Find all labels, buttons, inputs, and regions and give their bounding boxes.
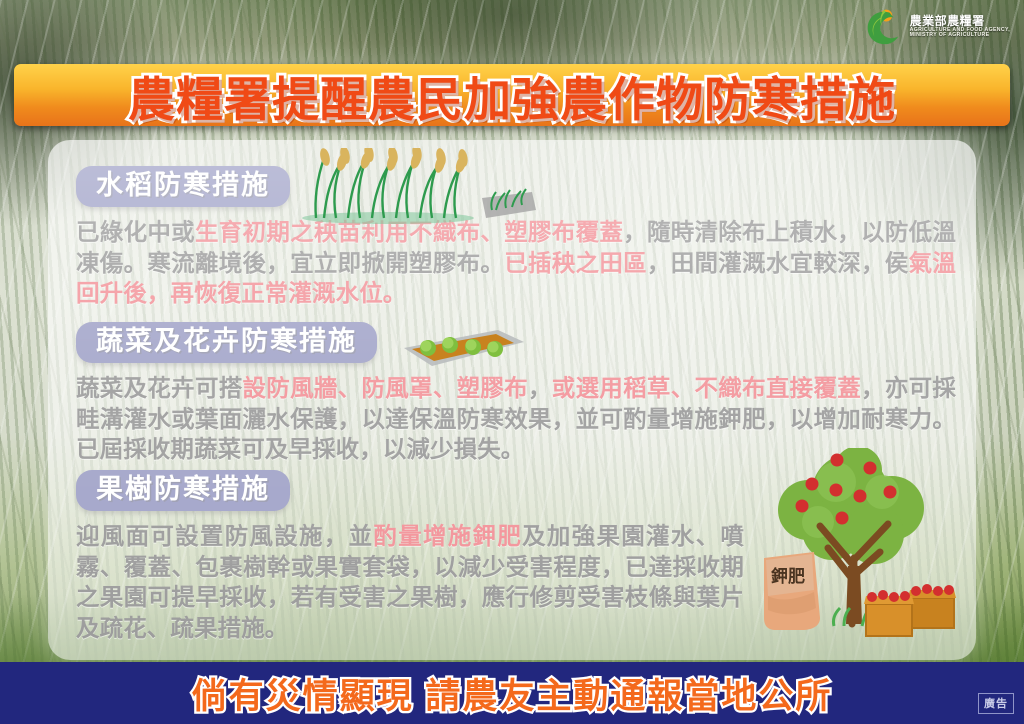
main-title-banner: 農糧署提醒農民加強農作物防寒措施 xyxy=(14,64,1010,126)
agency-name-en-line2: MINISTRY OF AGRICULTURE xyxy=(910,33,1010,38)
bottom-banner-text: 倘有災情顯現 請農友主動通報當地公所 xyxy=(0,664,1024,722)
agency-logo: 農業部農糧署 AGRICULTURE AND FOOD AGENCY, MINI… xyxy=(861,6,1010,48)
poster-root: 農業部農糧署 AGRICULTURE AND FOOD AGENCY, MINI… xyxy=(0,0,1024,724)
agency-name-cn: 農業部農糧署 xyxy=(910,15,1010,28)
afa-sprout-logo-icon xyxy=(861,6,903,48)
agency-logo-text: 農業部農糧署 AGRICULTURE AND FOOD AGENCY, MINI… xyxy=(910,15,1010,39)
page-title: 農糧署提醒農民加強農作物防寒措施 xyxy=(14,64,1010,126)
ad-tag-badge: 廣告 xyxy=(978,693,1014,714)
bottom-banner: 倘有災情顯現 請農友主動通報當地公所 xyxy=(0,662,1024,724)
content-panel xyxy=(48,140,976,660)
